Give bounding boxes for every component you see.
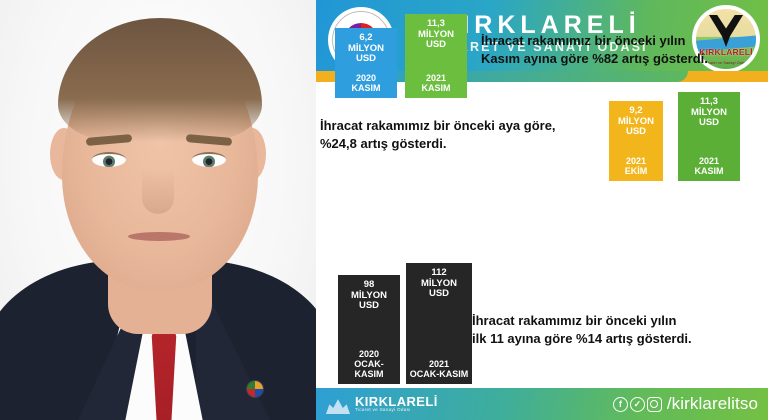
footer-logo: KIRKLARELİ Ticaret ve Sanayi Odası [326,394,438,414]
chart1-bar2-year: 2021 [422,73,451,83]
iris-right [203,155,215,167]
chart1-bar-2020-kasim: 6,2 MİLYON USD 2020 KASIM [335,28,397,98]
chart1-bar1-top: 6,2 MİLYON USD [348,33,384,65]
chart3-bar1-period: OCAK-KASIM [340,359,398,379]
chart3-bar2-unit-2: USD [421,289,457,300]
chart2-bar-2021-kasim: 11,3 MİLYON USD 2021 KASIM [678,92,740,181]
chart1-bar1-unit-2: USD [348,54,384,65]
statement-first: İhracat rakamımız bir önceki yılın Kasım… [481,32,761,69]
twitter-icon[interactable]: ✓ [630,397,645,412]
footer-bar: KIRKLARELİ Ticaret ve Sanayi Odası f ✓ /… [316,388,768,420]
chart1-bar1-period: KASIM [352,83,381,93]
infographic-panel: TOBB KIRKLARELİ TİCARET VE SANAYİ ODASI … [316,0,768,420]
chart1-bar2-unit-2: USD [418,40,454,51]
chart1-bar2-period: KASIM [422,83,451,93]
footer-logo-text: KIRKLARELİ Ticaret ve Sanayi Odası [355,395,438,413]
footer-logo-mark-icon [326,394,350,414]
chart2-bar1-unit-2: USD [618,127,654,138]
statement-third: İhracat rakamımız bir önceki yılın ilk 1… [472,312,764,349]
chart1-bar2-foot: 2021 KASIM [422,73,451,93]
chart3-bar2-top: 112 MİLYON USD [421,268,457,300]
instagram-icon[interactable] [647,397,662,412]
chart2-bar2-top: 11,3 MİLYON USD [691,97,727,129]
lapel-pin [246,380,264,398]
infographic-screenshot: TOBB KIRKLARELİ TİCARET VE SANAYİ ODASI … [0,0,768,420]
chart3-bar2-foot: 2021 OCAK-KASIM [410,359,469,379]
chart3-bar-2020-ocak-kasim: 98 MİLYON USD 2020 OCAK-KASIM [338,275,400,384]
chart3-bar1-unit-2: USD [351,301,387,312]
chart2-bar1-top: 9,2 MİLYON USD [618,106,654,138]
eye-right [192,152,226,167]
nose [142,168,174,214]
chart1-bar1-year: 2020 [352,73,381,83]
chart2-bar2-unit-2: USD [691,118,727,129]
chart3-bar2-year: 2021 [410,359,469,369]
chart3-bar1-year: 2020 [340,349,398,359]
chart1-bar2-top: 11,3 MİLYON USD [418,19,454,51]
chart3-bar1-foot: 2020 OCAK-KASIM [340,349,398,379]
chart3-bar-2021-ocak-kasim: 112 MİLYON USD 2021 OCAK-KASIM [406,263,472,384]
chart2-bar2-period: KASIM [695,166,724,176]
chart1-bar1-foot: 2020 KASIM [352,73,381,93]
social-handle[interactable]: /kirklarelitso [667,394,758,414]
iris-left [103,155,115,167]
chart2-bar2-year: 2021 [695,156,724,166]
portrait-photo [0,0,316,420]
facebook-icon[interactable]: f [613,397,628,412]
chart2-bar-2021-ekim: 9,2 MİLYON USD 2021 EKİM [609,101,663,181]
eye-left [92,152,126,167]
chart3-bar2-period: OCAK-KASIM [410,369,469,379]
chart2-bar1-foot: 2021 EKİM [625,156,648,176]
chart1-bar-2021-kasim: 11,3 MİLYON USD 2021 KASIM [405,14,467,98]
chart3-bar1-top: 98 MİLYON USD [351,280,387,312]
chart2-bar2-foot: 2021 KASIM [695,156,724,176]
mouth [128,232,190,241]
social-links[interactable]: f ✓ /kirklarelitso [613,394,758,414]
chart2-bar1-year: 2021 [625,156,648,166]
statement-second: İhracat rakamımız bir önceki aya göre, %… [320,117,608,154]
chart2-bar1-period: EKİM [625,166,648,176]
